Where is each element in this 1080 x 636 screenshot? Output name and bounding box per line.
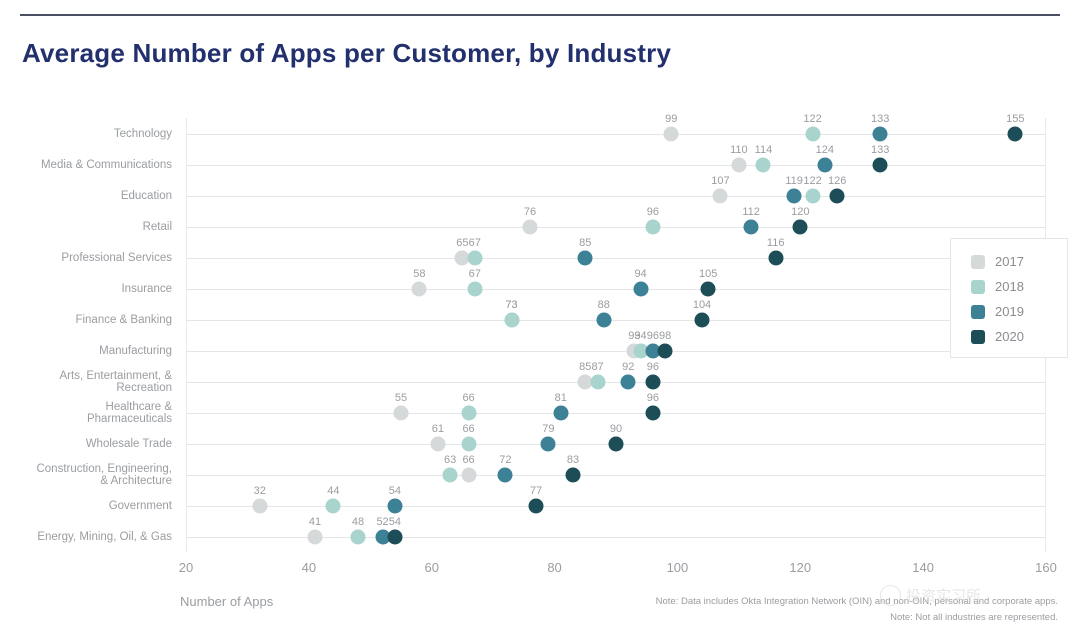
chart-plot-area: Technology99122133155Media & Communicati… <box>0 0 1080 636</box>
legend-swatch <box>971 280 985 294</box>
category-label: Healthcare & Pharmaceuticals <box>0 401 172 425</box>
data-point-value: 96 <box>647 330 659 342</box>
data-point-value: 66 <box>462 454 474 466</box>
data-point-value: 126 <box>828 175 846 187</box>
data-point-value: 48 <box>352 516 364 528</box>
legend-swatch <box>971 330 985 344</box>
data-point-value: 104 <box>693 299 711 311</box>
category-label: Energy, Mining, Oil, & Gas <box>0 531 172 543</box>
data-point-value: 76 <box>524 206 536 218</box>
data-point-value: 98 <box>659 330 671 342</box>
x-axis-tick: 60 <box>424 560 438 575</box>
data-point-value: 83 <box>567 454 579 466</box>
row-gridline <box>186 320 1046 321</box>
category-label: Retail <box>0 221 172 233</box>
data-point[interactable] <box>387 529 402 544</box>
legend-item[interactable]: 2018 <box>971 274 1067 299</box>
data-point[interactable] <box>590 374 605 389</box>
data-point-value: 94 <box>634 268 646 280</box>
row-gridline <box>186 382 1046 383</box>
category-label: Education <box>0 190 172 202</box>
data-point[interactable] <box>756 157 771 172</box>
x-axis-tick: 40 <box>302 560 316 575</box>
data-point-value: 94 <box>634 330 646 342</box>
data-point-value: 79 <box>542 423 554 435</box>
data-point-value: 73 <box>505 299 517 311</box>
data-point[interactable] <box>461 467 476 482</box>
row-gridline <box>186 475 1046 476</box>
data-point-value: 96 <box>647 361 659 373</box>
data-point-value: 65 <box>456 237 468 249</box>
data-point[interactable] <box>351 529 366 544</box>
row-gridline <box>186 413 1046 414</box>
data-point[interactable] <box>830 188 845 203</box>
data-point[interactable] <box>805 126 820 141</box>
data-point[interactable] <box>731 157 746 172</box>
data-point[interactable] <box>461 405 476 420</box>
data-point-value: 87 <box>591 361 603 373</box>
data-point-value: 120 <box>791 206 809 218</box>
data-point-value: 41 <box>309 516 321 528</box>
data-point[interactable] <box>1008 126 1023 141</box>
chart-legend: 2017201820192020 <box>950 238 1068 358</box>
legend-swatch <box>971 255 985 269</box>
legend-label: 2020 <box>995 329 1024 344</box>
x-axis-tick: 100 <box>667 560 689 575</box>
data-point[interactable] <box>596 312 611 327</box>
row-gridline <box>186 165 1046 166</box>
data-point-value: 58 <box>413 268 425 280</box>
data-point-value: 96 <box>647 392 659 404</box>
data-point[interactable] <box>768 250 783 265</box>
data-point[interactable] <box>523 219 538 234</box>
x-axis-tick: 20 <box>179 560 193 575</box>
x-axis-label: Number of Apps <box>180 594 273 609</box>
data-point-value: 61 <box>432 423 444 435</box>
data-point-value: 67 <box>469 268 481 280</box>
data-point[interactable] <box>713 188 728 203</box>
data-point[interactable] <box>412 281 427 296</box>
data-point-value: 85 <box>579 237 591 249</box>
data-point-value: 99 <box>665 113 677 125</box>
data-point[interactable] <box>578 250 593 265</box>
data-point-value: 122 <box>803 175 821 187</box>
row-gridline <box>186 134 1046 135</box>
data-point-value: 63 <box>444 454 456 466</box>
data-point[interactable] <box>621 374 636 389</box>
category-label: Technology <box>0 128 172 140</box>
data-point-value: 44 <box>327 485 339 497</box>
data-point-value: 54 <box>389 516 401 528</box>
legend-item[interactable]: 2019 <box>971 299 1067 324</box>
data-point[interactable] <box>308 529 323 544</box>
data-point[interactable] <box>467 281 482 296</box>
data-point-value: 55 <box>395 392 407 404</box>
category-label: Construction, Engineering, & Architectur… <box>0 463 172 487</box>
data-point-value: 114 <box>755 144 773 156</box>
legend-item[interactable]: 2020 <box>971 324 1067 349</box>
data-point[interactable] <box>394 405 409 420</box>
data-point[interactable] <box>695 312 710 327</box>
x-axis-tick: 80 <box>547 560 561 575</box>
x-axis-tick: 120 <box>789 560 811 575</box>
data-point[interactable] <box>645 405 660 420</box>
row-gridline <box>186 227 1046 228</box>
watermark-logo-icon <box>880 585 901 606</box>
data-point[interactable] <box>793 219 808 234</box>
row-gridline <box>186 196 1046 197</box>
data-point-value: 66 <box>462 423 474 435</box>
plot-frame <box>186 118 1046 552</box>
data-point[interactable] <box>645 374 660 389</box>
data-point[interactable] <box>658 343 673 358</box>
data-point-value: 155 <box>1006 113 1024 125</box>
data-point-value: 92 <box>622 361 634 373</box>
data-point[interactable] <box>566 467 581 482</box>
legend-swatch <box>971 305 985 319</box>
data-point-value: 133 <box>871 113 889 125</box>
data-point-value: 110 <box>730 144 748 156</box>
data-point-value: 81 <box>555 392 567 404</box>
data-point[interactable] <box>541 436 556 451</box>
data-point[interactable] <box>252 498 267 513</box>
data-point[interactable] <box>873 157 888 172</box>
row-gridline <box>186 351 1046 352</box>
data-point-value: 96 <box>647 206 659 218</box>
data-point[interactable] <box>664 126 679 141</box>
data-point[interactable] <box>701 281 716 296</box>
data-point-value: 54 <box>389 485 401 497</box>
data-point-value: 119 <box>785 175 803 187</box>
data-point-value: 122 <box>803 113 821 125</box>
data-point-value: 52 <box>376 516 388 528</box>
data-point-value: 67 <box>469 237 481 249</box>
watermark: 投资实习所 <box>880 578 1065 612</box>
legend-label: 2018 <box>995 279 1024 294</box>
data-point[interactable] <box>498 467 513 482</box>
row-gridline <box>186 506 1046 507</box>
data-point-value: 90 <box>610 423 622 435</box>
data-point[interactable] <box>461 436 476 451</box>
category-label: Media & Communications <box>0 159 172 171</box>
x-axis-tick: 140 <box>912 560 934 575</box>
data-point-value: 105 <box>699 268 717 280</box>
data-point[interactable] <box>387 498 402 513</box>
data-point-value: 77 <box>530 485 542 497</box>
data-point-value: 107 <box>711 175 729 187</box>
data-point[interactable] <box>645 219 660 234</box>
category-label: Finance & Banking <box>0 314 172 326</box>
data-point[interactable] <box>744 219 759 234</box>
data-point-value: 116 <box>767 237 785 249</box>
row-gridline <box>186 289 1046 290</box>
data-point-value: 88 <box>598 299 610 311</box>
data-point[interactable] <box>467 250 482 265</box>
data-point[interactable] <box>805 188 820 203</box>
data-point[interactable] <box>430 436 445 451</box>
data-point[interactable] <box>529 498 544 513</box>
data-point-value: 133 <box>871 144 889 156</box>
row-gridline <box>186 258 1046 259</box>
data-point-value: 32 <box>254 485 266 497</box>
category-label: Government <box>0 500 172 512</box>
data-point[interactable] <box>326 498 341 513</box>
data-point-value: 66 <box>462 392 474 404</box>
data-point[interactable] <box>553 405 568 420</box>
category-label: Arts, Entertainment, & Recreation <box>0 370 172 394</box>
data-point[interactable] <box>504 312 519 327</box>
category-label: Manufacturing <box>0 345 172 357</box>
legend-item[interactable]: 2017 <box>971 249 1067 274</box>
footnote-industries: Note: Not all industries are represented… <box>890 612 1058 623</box>
legend-label: 2019 <box>995 304 1024 319</box>
category-label: Insurance <box>0 283 172 295</box>
watermark-text: 投资实习所 <box>906 585 981 606</box>
data-point[interactable] <box>443 467 458 482</box>
data-point[interactable] <box>817 157 832 172</box>
data-point-value: 85 <box>579 361 591 373</box>
data-point-value: 112 <box>742 206 760 218</box>
data-point-value: 124 <box>816 144 834 156</box>
data-point-value: 72 <box>499 454 511 466</box>
x-axis-tick: 160 <box>1035 560 1057 575</box>
category-label: Professional Services <box>0 252 172 264</box>
data-point[interactable] <box>873 126 888 141</box>
data-point[interactable] <box>633 281 648 296</box>
data-point[interactable] <box>609 436 624 451</box>
legend-label: 2017 <box>995 254 1024 269</box>
category-label: Wholesale Trade <box>0 438 172 450</box>
data-point[interactable] <box>787 188 802 203</box>
